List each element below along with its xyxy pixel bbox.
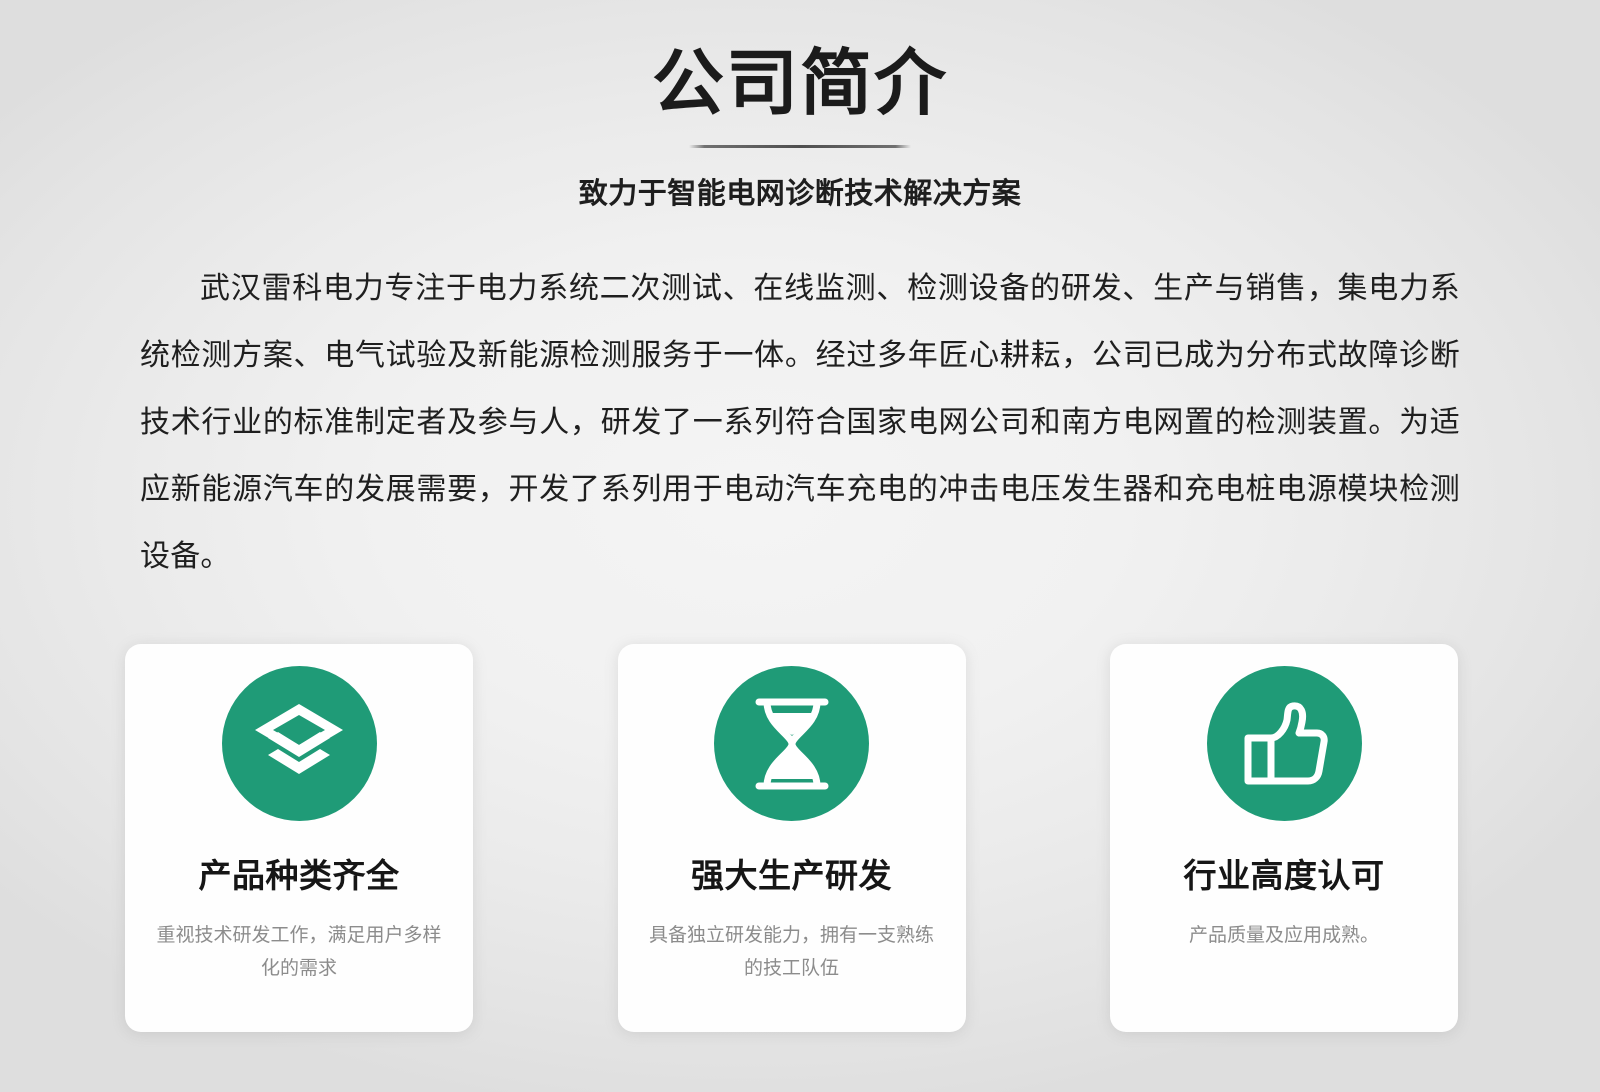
feature-card[interactable]: 产品种类齐全 重视技术研发工作，满足用户多样化的需求 [125,644,473,1032]
thumbs-up-icon [1238,698,1330,790]
company-intro-page: 公司简介 致力于智能电网诊断技术解决方案 武汉雷科电力专注于电力系统二次测试、在… [0,0,1600,1092]
page-title: 公司简介 [0,0,1600,123]
card-icon-badge [714,666,869,821]
company-intro-paragraph: 武汉雷科电力专注于电力系统二次测试、在线监测、检测设备的研发、生产与销售，集电力… [140,255,1460,590]
card-description: 产品质量及应用成熟。 [1139,919,1429,952]
feature-card[interactable]: 行业高度认可 产品质量及应用成熟。 [1110,644,1458,1032]
card-title: 产品种类齐全 [125,849,473,897]
feature-cards: 产品种类齐全 重视技术研发工作，满足用户多样化的需求 [125,644,1458,1032]
card-description: 具备独立研发能力，拥有一支熟练的技工队伍 [647,919,937,985]
card-title: 行业高度认可 [1110,849,1458,897]
card-icon-badge [222,666,377,821]
page-header: 公司简介 致力于智能电网诊断技术解决方案 [0,0,1600,212]
card-title: 强大生产研发 [618,849,966,897]
feature-card[interactable]: 强大生产研发 具备独立研发能力，拥有一支熟练的技工队伍 [618,644,966,1032]
layers-icon [253,702,345,786]
card-description: 重视技术研发工作，满足用户多样化的需求 [154,919,444,985]
hourglass-icon [753,697,831,791]
page-subtitle: 致力于智能电网诊断技术解决方案 [0,148,1600,212]
card-icon-badge [1207,666,1362,821]
